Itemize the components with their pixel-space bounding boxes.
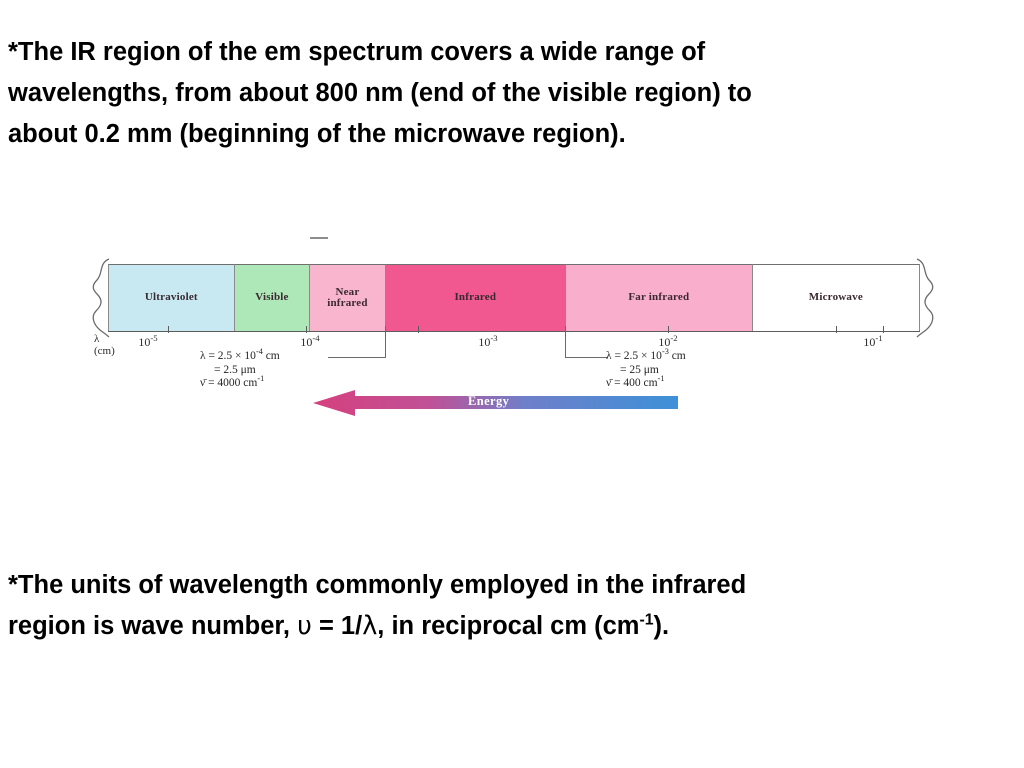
annotation-right-line-1-exponent: -3 (662, 347, 669, 356)
axis-tick-label-1: 10-5 (138, 335, 157, 350)
annotation-right-line-3-a: ν̄ = 400 cm (606, 377, 658, 389)
annotation-right-line-1: λ = 2.5 × 10-3 cm (606, 350, 686, 364)
energy-label: Energy (468, 394, 509, 409)
axis-tick-5 (883, 326, 884, 333)
tick-3-mantissa: 10 (478, 335, 490, 349)
bottom-paragraph-line-2-d: ). (654, 612, 670, 640)
bottom-paragraph-line-1: *The units of wavelength commonly employ… (8, 565, 1018, 606)
band-label-ultraviolet: Ultraviolet (145, 292, 198, 304)
band-visible: Visible (235, 264, 311, 332)
tick-1-mantissa: 10 (138, 335, 150, 349)
bottom-paragraph-line-2-a: region is wave number, (8, 612, 297, 640)
band-microwave: Microwave (753, 264, 920, 332)
bottom-paragraph-line-2: region is wave number, υ = 1/λ, in recip… (8, 606, 1018, 647)
band-ultraviolet: Ultraviolet (108, 264, 235, 332)
tick-2-mantissa: 10 (300, 335, 312, 349)
axis-tick-label-2: 10-4 (300, 335, 319, 350)
em-spectrum-figure: Ultraviolet Visible Near infrared Infrar… (88, 225, 928, 420)
stray-dash-mark (310, 237, 328, 239)
annotation-right: λ = 2.5 × 10-3 cm = 25 μm ν̄ = 400 cm-1 (606, 350, 686, 391)
bottom-paragraph-superscript: -1 (639, 612, 653, 629)
band-label-infrared: Infrared (454, 292, 496, 304)
callout-right-vline (565, 331, 566, 358)
tick-1-exponent: -5 (150, 333, 157, 343)
band-label-visible: Visible (255, 292, 288, 304)
tick-3-exponent: -3 (490, 333, 497, 343)
annotation-left-line-2: = 2.5 μm (200, 364, 280, 378)
top-paragraph-line-1: *The IR region of the em spectrum covers… (8, 32, 1016, 73)
axis-tick-1 (168, 326, 169, 333)
band-infrared: Infrared (386, 264, 566, 332)
tick-5-exponent: -1 (875, 333, 882, 343)
annotation-left-line-1-b: cm (263, 350, 280, 362)
annotation-left-line-1-a: λ = 2.5 × 10 (200, 350, 256, 362)
annotation-right-line-1-a: λ = 2.5 × 10 (606, 350, 662, 362)
tick-5-mantissa: 10 (863, 335, 875, 349)
annotation-left: λ = 2.5 × 10-4 cm = 2.5 μm ν̄ = 4000 cm-… (200, 350, 280, 391)
wavelength-axis-line (108, 331, 920, 332)
axis-tick-4 (836, 326, 837, 333)
axis-tick-3 (668, 326, 669, 333)
band-label-far-infrared: Far infrared (628, 292, 689, 304)
axis-tick-2 (418, 326, 419, 333)
callout-left-vline (385, 331, 386, 358)
bottom-paragraph-line-2-c: , in reciprocal cm (cm (377, 612, 639, 640)
top-paragraph: *The IR region of the em spectrum covers… (8, 32, 1016, 155)
annotation-left-line-3-a: ν̄ = 4000 cm (200, 377, 257, 389)
annotation-right-line-1-b: cm (669, 350, 686, 362)
symbol-lambda: λ (362, 611, 377, 641)
callout-left-hline (328, 357, 386, 358)
bottom-paragraph-line-2-b: = 1/ (312, 612, 362, 640)
annotation-right-line-3-exponent: -1 (658, 374, 665, 383)
annotation-left-line-1-exponent: -4 (256, 347, 263, 356)
callout-right-hline (565, 357, 607, 358)
spectrum-band-bar: Ultraviolet Visible Near infrared Infrar… (108, 264, 920, 332)
annotation-right-line-2: = 25 μm (606, 364, 686, 378)
band-label-near-infrared: Near infrared (327, 287, 368, 310)
annotation-left-line-3-exponent: -1 (257, 374, 264, 383)
annotation-left-line-1: λ = 2.5 × 10-4 cm (200, 350, 280, 364)
top-paragraph-line-2: wavelengths, from about 800 nm (end of t… (8, 73, 1016, 114)
band-label-microwave: Microwave (809, 292, 863, 304)
tick-4-exponent: -2 (670, 333, 677, 343)
symbol-nu: υ (297, 611, 312, 641)
band-far-infrared: Far infrared (566, 264, 753, 332)
annotation-left-line-3: ν̄ = 4000 cm-1 (200, 377, 280, 391)
bottom-paragraph: *The units of wavelength commonly employ… (8, 565, 1018, 647)
axis-unit-cm: (cm) (94, 345, 115, 357)
band-near-infrared: Near infrared (310, 264, 386, 332)
annotation-right-line-3: ν̄ = 400 cm-1 (606, 377, 686, 391)
axis-tick-2b (306, 326, 307, 333)
tick-2-exponent: -4 (312, 333, 319, 343)
axis-symbol-lambda: λ (94, 333, 99, 345)
axis-tick-label-5: 10-1 (863, 335, 882, 350)
top-paragraph-line-3: about 0.2 mm (beginning of the microwave… (8, 114, 1016, 155)
axis-tick-label-3: 10-3 (478, 335, 497, 350)
axis-name-label: λ (cm) (94, 333, 115, 357)
